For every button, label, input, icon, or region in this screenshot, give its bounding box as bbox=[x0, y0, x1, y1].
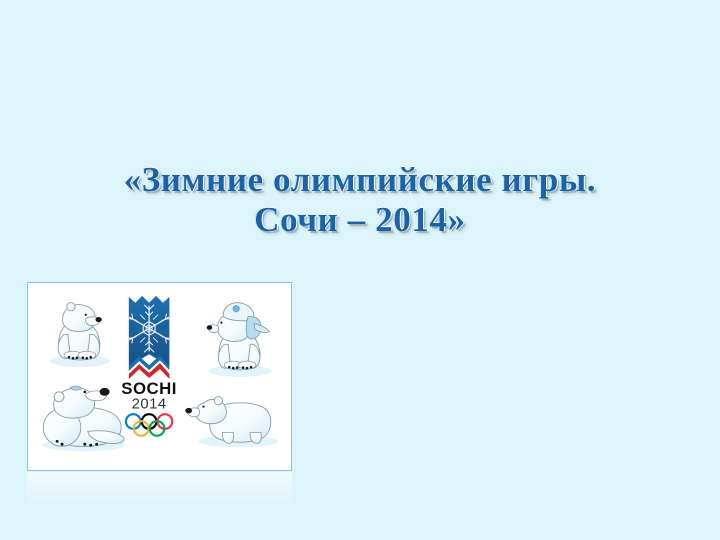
picture-frame[interactable]: SOCHI 2014 bbox=[27, 282, 292, 471]
picture-reflection bbox=[27, 472, 292, 506]
title-line-1: «Зимние олимпийские игры. bbox=[0, 160, 720, 200]
emblem-wordmark: SOCHI bbox=[121, 379, 177, 398]
bear-nose bbox=[95, 317, 101, 322]
bear-with-ushanka-top-right bbox=[207, 303, 272, 377]
sochi-2014-emblem: SOCHI 2014 bbox=[121, 296, 177, 436]
bear-standing-bottom-right bbox=[185, 397, 277, 448]
title-line-2: Сочи – 2014» bbox=[0, 200, 720, 240]
bear-nose bbox=[100, 388, 110, 396]
bear-reclining-bottom-left bbox=[42, 386, 125, 451]
olympic-rings-icon bbox=[126, 414, 172, 436]
bear-sitting-top-left bbox=[50, 303, 109, 368]
slide-canvas: «Зимние олимпийские игры. Сочи – 2014» bbox=[0, 0, 720, 540]
emblem-year: 2014 bbox=[132, 397, 167, 413]
bear-nose bbox=[185, 408, 192, 414]
bear-nose bbox=[207, 325, 213, 330]
sochi-2014-polar-bears-illustration: SOCHI 2014 bbox=[28, 283, 291, 470]
page-title: «Зимние олимпийские игры. Сочи – 2014» bbox=[0, 160, 720, 240]
